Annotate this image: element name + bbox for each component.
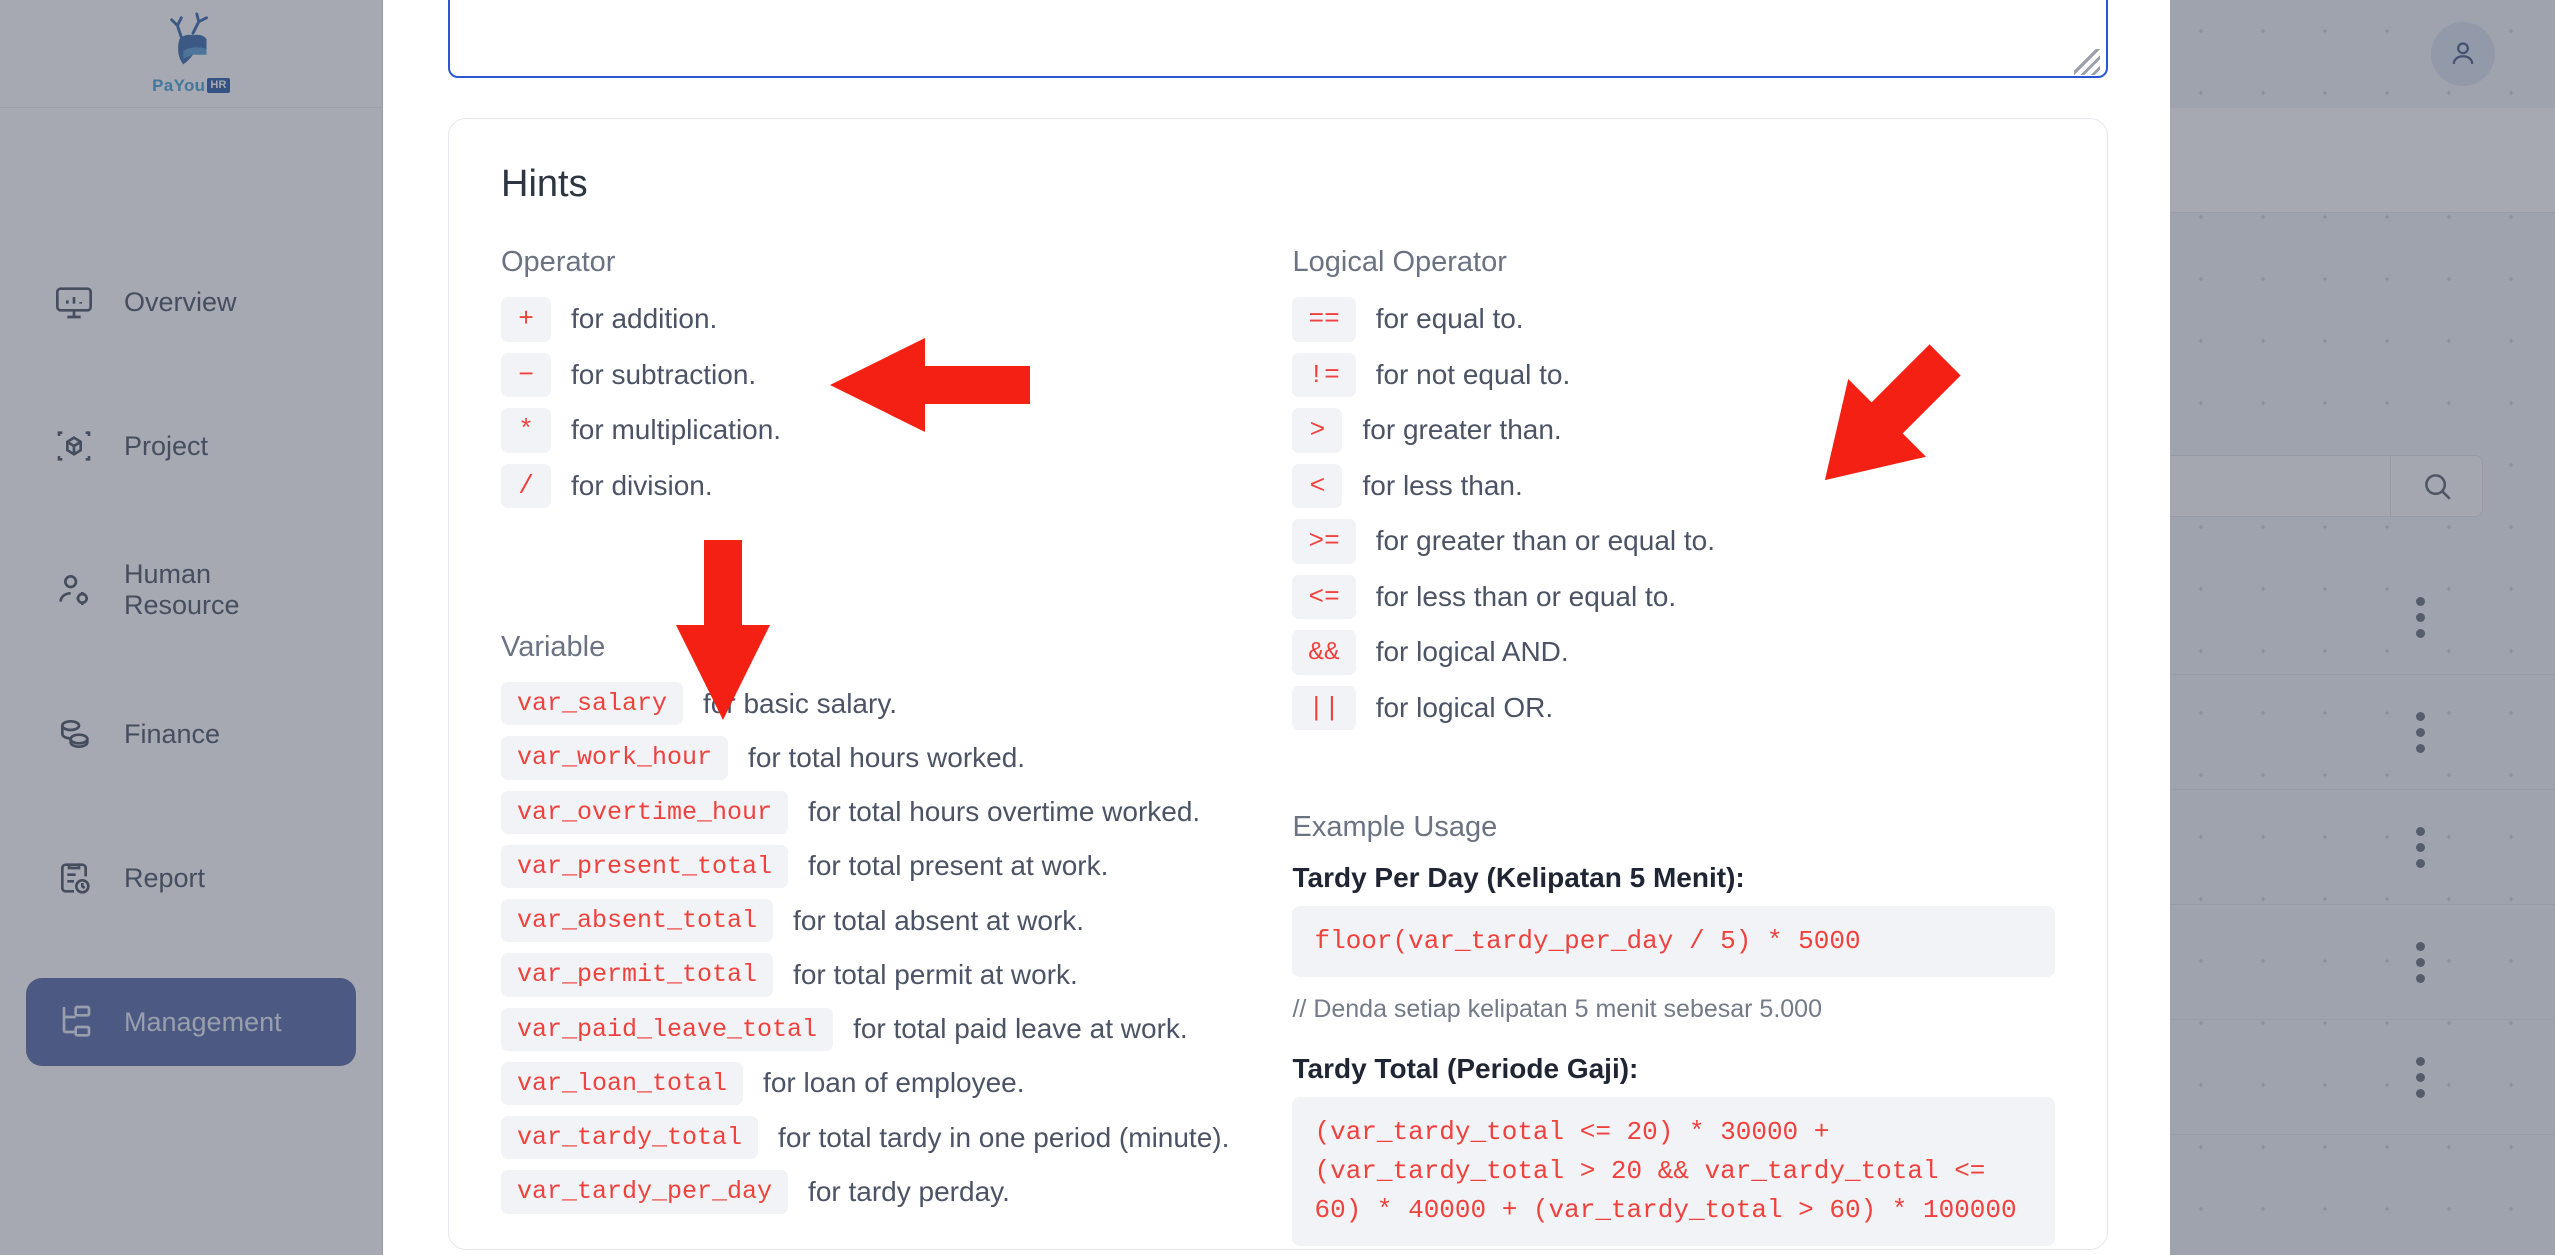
operator-description: for subtraction. — [571, 359, 756, 391]
logical-operator-item-greater-equal: >= for greater than or equal to. — [1292, 519, 2055, 564]
variable-item-absent-total: var_absent_total for total absent at wor… — [501, 899, 1292, 942]
variable-description: for total present at work. — [808, 850, 1108, 882]
variable-symbol: var_tardy_total — [501, 1116, 758, 1159]
down-arrow-icon — [668, 540, 778, 720]
variable-symbol: var_salary — [501, 682, 683, 725]
logical-operator-item-less-equal: <= for less than or equal to. — [1292, 575, 2055, 620]
logical-operator-symbol: || — [1292, 686, 1355, 731]
logical-operator-symbol: <= — [1292, 575, 1355, 620]
logical-operator-description: for greater than. — [1362, 414, 1561, 446]
variable-description: for total paid leave at work. — [853, 1013, 1188, 1045]
logical-operator-symbol: != — [1292, 353, 1355, 398]
logical-operator-item-and: && for logical AND. — [1292, 630, 2055, 675]
example-note-tardy-per-day: // Denda setiap kelipatan 5 menit sebesa… — [1292, 991, 2055, 1027]
operator-symbol: − — [501, 353, 551, 398]
variable-item-permit-total: var_permit_total for total permit at wor… — [501, 953, 1292, 996]
hints-title: Hints — [501, 163, 2055, 206]
operator-section-label: Operator — [501, 246, 1292, 279]
formula-input-wrapper — [448, 0, 2108, 83]
logical-operator-symbol: < — [1292, 464, 1342, 509]
logical-operator-description: for less than. — [1362, 470, 1522, 502]
example-code-tardy-per-day: floor(var_tardy_per_day / 5) * 5000 — [1292, 906, 2055, 977]
example-title-tardy-total: Tardy Total (Periode Gaji): — [1292, 1053, 2055, 1085]
logical-operator-description: for logical OR. — [1376, 692, 1553, 724]
variable-symbol: var_permit_total — [501, 953, 773, 996]
logical-operator-item-or: || for logical OR. — [1292, 686, 2055, 731]
variable-symbol: var_absent_total — [501, 899, 773, 942]
variable-symbol: var_present_total — [501, 845, 788, 888]
logical-operator-section-label: Logical Operator — [1292, 246, 2055, 279]
variable-description: for loan of employee. — [763, 1067, 1025, 1099]
logical-operator-symbol: && — [1292, 630, 1355, 675]
diagonal-arrow-icon — [1800, 335, 1970, 505]
operator-symbol: / — [501, 464, 551, 509]
variable-description: for total absent at work. — [793, 905, 1084, 937]
logical-operator-description: for not equal to. — [1376, 359, 1571, 391]
formula-editor-modal: Hints Operator + for addition. − for sub… — [383, 0, 2170, 1255]
logical-operator-description: for greater than or equal to. — [1376, 525, 1715, 557]
operator-description: for division. — [571, 470, 713, 502]
variable-symbol: var_overtime_hour — [501, 791, 788, 834]
variable-item-loan-total: var_loan_total for loan of employee. — [501, 1062, 1292, 1105]
logical-operator-symbol: > — [1292, 408, 1342, 453]
variable-symbol: var_tardy_per_day — [501, 1170, 788, 1213]
left-arrow-icon — [830, 330, 1030, 440]
logical-operator-symbol: == — [1292, 297, 1355, 342]
variable-item-paid-leave-total: var_paid_leave_total for total paid leav… — [501, 1008, 1292, 1051]
variable-section-label: Variable — [501, 631, 1292, 664]
example-code-tardy-total: (var_tardy_total <= 20) * 30000 + (var_t… — [1292, 1097, 2055, 1246]
variable-description: for total permit at work. — [793, 959, 1078, 991]
operator-symbol: + — [501, 297, 551, 342]
logical-operator-description: for less than or equal to. — [1376, 581, 1676, 613]
variable-item-salary: var_salary for basic salary. — [501, 682, 1292, 725]
variable-description: for total hours worked. — [748, 742, 1025, 774]
variable-item-overtime-hour: var_overtime_hour for total hours overti… — [501, 791, 1292, 834]
variable-description: for tardy perday. — [808, 1176, 1010, 1208]
variable-symbol: var_paid_leave_total — [501, 1008, 833, 1051]
variable-description: for total hours overtime worked. — [808, 796, 1200, 828]
variable-item-tardy-per-day: var_tardy_per_day for tardy perday. — [501, 1170, 1292, 1213]
arrow-pointing-operator-list — [830, 330, 1030, 440]
logical-operator-description: for logical AND. — [1376, 636, 1569, 668]
arrow-pointing-logical-operator-list — [1800, 335, 1970, 505]
variable-description: for total tardy in one period (minute). — [778, 1122, 1229, 1154]
operator-item-division: / for division. — [501, 464, 1292, 509]
operator-symbol: * — [501, 408, 551, 453]
variable-symbol: var_loan_total — [501, 1062, 743, 1105]
logical-operator-symbol: >= — [1292, 519, 1355, 564]
example-title-tardy-per-day: Tardy Per Day (Kelipatan 5 Menit): — [1292, 862, 2055, 894]
variable-symbol: var_work_hour — [501, 736, 728, 779]
operator-description: for addition. — [571, 303, 717, 335]
variable-item-present-total: var_present_total for total present at w… — [501, 845, 1292, 888]
operator-description: for multiplication. — [571, 414, 781, 446]
example-usage-section-label: Example Usage — [1292, 811, 2055, 844]
variable-item-work-hour: var_work_hour for total hours worked. — [501, 736, 1292, 779]
variable-item-tardy-total: var_tardy_total for total tardy in one p… — [501, 1116, 1292, 1159]
logical-operator-description: for equal to. — [1376, 303, 1524, 335]
formula-textarea[interactable] — [448, 0, 2108, 78]
arrow-pointing-variable-list — [668, 540, 778, 720]
